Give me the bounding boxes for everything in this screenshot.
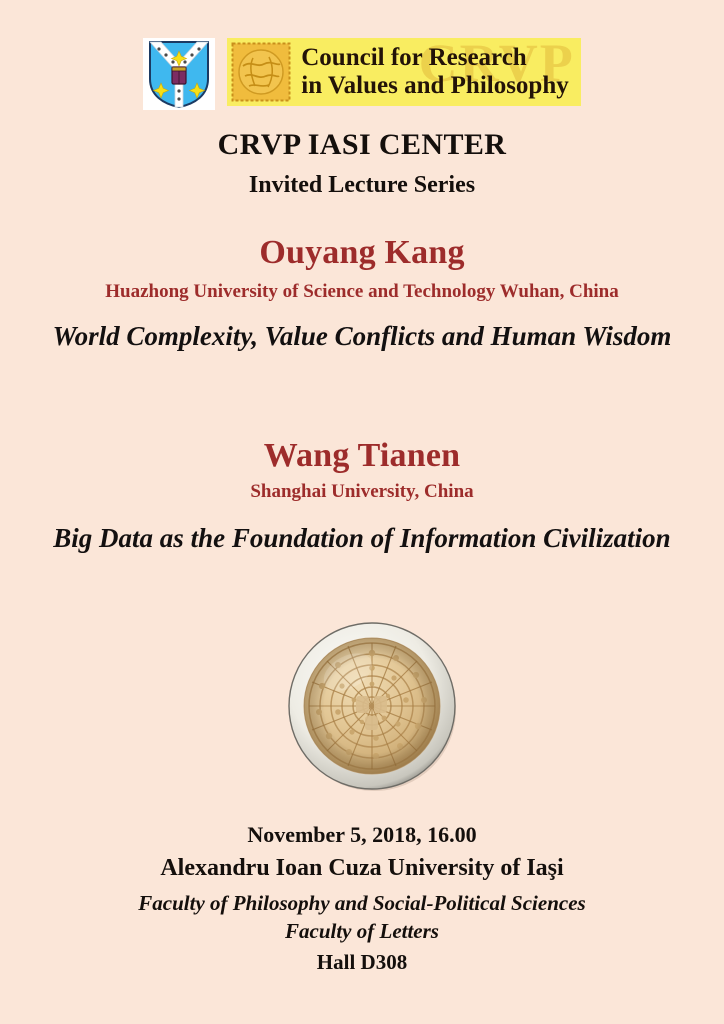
page-subtitle: Invited Lecture Series [0, 172, 724, 199]
university-crest-icon [143, 38, 215, 110]
crvp-logo-banner: CRVP Council for Research in Values and … [227, 38, 581, 106]
event-hall: Hall D308 [0, 949, 724, 977]
speaker-name: Ouyang Kang [0, 234, 724, 271]
event-details-block: November 5, 2018, 16.00 Alexandru Ioan C… [0, 820, 724, 977]
speaker-affiliation: Huazhong University of Science and Techn… [62, 279, 662, 305]
event-faculty-primary: Faculty of Philosophy and Social-Politic… [0, 890, 724, 918]
crvp-globe-icon [231, 42, 291, 102]
lecture-title: World Complexity, Value Conflicts and Hu… [42, 319, 682, 354]
event-university: Alexandru Ioan Cuza University of Iaşi [0, 853, 724, 885]
speaker-block: Wang Tianen Shanghai University, China B… [0, 437, 724, 556]
poster-page: CRVP Council for Research in Values and … [0, 0, 724, 1024]
page-title: CRVP IASI CENTER [0, 128, 724, 162]
phaistos-disc-image [286, 620, 458, 792]
crvp-name-line-2: in Values and Philosophy [301, 72, 569, 100]
speaker-affiliation: Shanghai University, China [62, 479, 662, 505]
crvp-organization-name: Council for Research in Values and Philo… [301, 44, 573, 100]
event-faculty-secondary: Faculty of Letters [0, 918, 724, 946]
speaker-block: Ouyang Kang Huazhong University of Scien… [0, 234, 724, 354]
crvp-name-line-1: Council for Research [301, 44, 569, 72]
lecture-title: Big Data as the Foundation of Informatio… [42, 521, 682, 556]
speaker-name: Wang Tianen [0, 437, 724, 474]
event-datetime: November 5, 2018, 16.00 [0, 820, 724, 849]
header-logo-band: CRVP Council for Research in Values and … [0, 38, 724, 112]
